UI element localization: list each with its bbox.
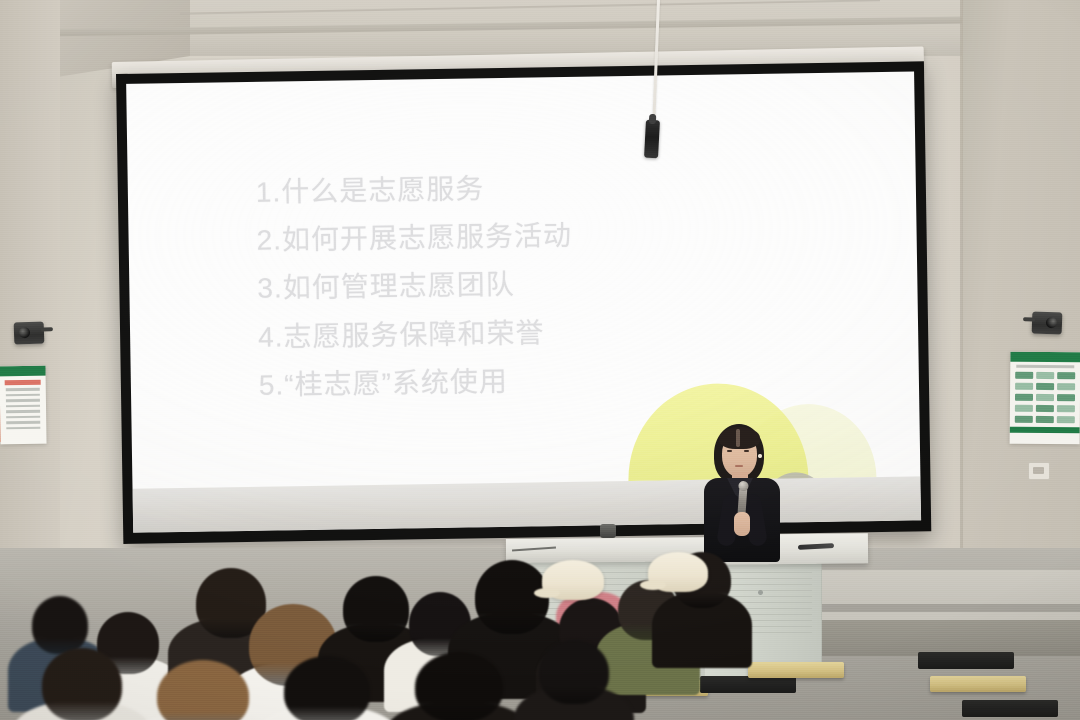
audience-member (256, 656, 398, 720)
audience-head (157, 660, 249, 720)
security-camera-right-icon (1032, 311, 1063, 334)
presenter-hands (734, 512, 750, 536)
left-wall-strip (0, 0, 60, 560)
audience-head (42, 648, 122, 720)
camera-lens-icon (1046, 317, 1057, 328)
projection-screen-surface: 1.什么是志愿服务 2.如何开展志愿服务活动 3.如何管理志愿团队 4.志愿服务… (126, 71, 921, 532)
audience-head (539, 640, 609, 704)
slide-line-1: 1.什么是志愿服务 (256, 169, 816, 208)
audience-desk (962, 700, 1058, 717)
slide-agenda-list: 1.什么是志愿服务 2.如何开展志愿服务活动 3.如何管理志愿团队 4.志愿服务… (256, 169, 819, 401)
poster-header-band (1010, 352, 1080, 363)
audience-head (415, 652, 503, 720)
audience-cap (648, 552, 708, 592)
slide-line-2: 2.如何开展志愿服务活动 (256, 217, 816, 256)
camera-mount (1023, 317, 1035, 321)
audience-desk (930, 676, 1026, 692)
security-camera-left-icon (14, 321, 45, 344)
camera-lens-icon (19, 327, 30, 338)
cord-clip-icon (644, 120, 660, 159)
audience-desk (748, 662, 844, 678)
slide-footer-band (133, 476, 922, 532)
poster-header-band (0, 366, 46, 377)
audience (0, 548, 1080, 720)
projection-screen-frame: 1.什么是志愿服务 2.如何开展志愿服务活动 3.如何管理志愿团队 4.志愿服务… (116, 61, 931, 544)
camera-mount (41, 327, 53, 331)
right-wall-corner-edge (960, 0, 963, 560)
audience-cap (542, 560, 604, 600)
audience-head (284, 656, 370, 720)
presenter-mouth (735, 465, 743, 467)
presenter-eye-left (727, 450, 732, 452)
slide-line-3: 3.如何管理志愿团队 (257, 265, 817, 304)
podium-control-gadget (600, 524, 616, 538)
wall-poster-right (1010, 352, 1080, 445)
slide-line-4: 4.志愿服务保障和荣誉 (258, 314, 818, 353)
right-wall-panel (962, 0, 1080, 560)
wall-poster-left (0, 366, 47, 445)
presenter-earring (758, 454, 762, 458)
audience-member (386, 652, 532, 720)
presenter-hair-fringe (719, 427, 760, 449)
lecture-hall-photo: 1.什么是志愿服务 2.如何开展志愿服务活动 3.如何管理志愿团队 4.志愿服务… (0, 0, 1080, 720)
wall-outlet-plate (1028, 462, 1050, 480)
poster-subtitle-band (5, 380, 41, 386)
audience-member (514, 640, 634, 720)
presenter-eye-right (744, 450, 749, 452)
presenter (694, 420, 790, 560)
audience-desk (918, 652, 1014, 669)
